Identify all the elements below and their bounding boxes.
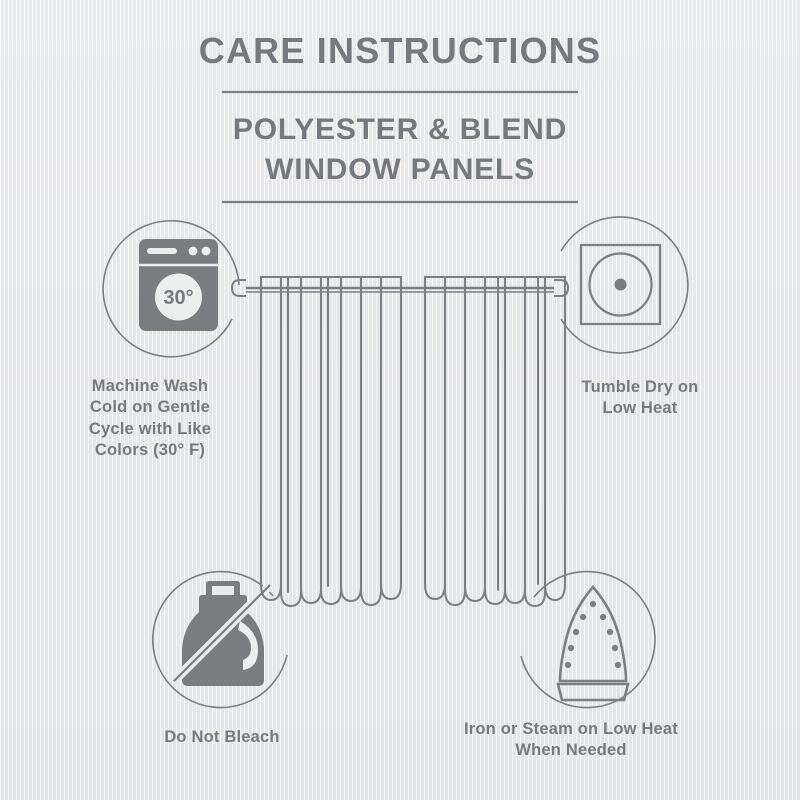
wash-temperature-label: 30° <box>163 287 193 309</box>
bleach-bottle-handle-cutout <box>212 586 234 595</box>
page-subtitle-line1: POLYESTER & BLEND <box>0 110 800 149</box>
iron-steam-icon <box>558 587 628 700</box>
washing-machine-icon: 30° <box>139 239 218 331</box>
iron-steam-holes <box>565 601 621 668</box>
iron-base <box>558 684 628 700</box>
caption-machine-wash: Machine Wash Cold on Gentle Cycle with L… <box>38 376 262 462</box>
curtain-panel-left <box>261 277 401 606</box>
curtain-panel-right <box>425 277 565 606</box>
page-title: CARE INSTRUCTIONS <box>0 28 800 75</box>
page-subtitle-line2: WINDOW PANELS <box>0 150 800 189</box>
care-instructions-infographic: 30° <box>0 0 800 800</box>
tumble-dry-low-icon <box>581 245 660 324</box>
caption-tumble-dry: Tumble Dry on Low Heat <box>528 377 752 420</box>
caption-do-not-bleach: Do Not Bleach <box>110 727 334 748</box>
dry-heat-dot <box>615 279 627 291</box>
caption-iron-low: Iron or Steam on Low Heat When Needed <box>432 719 710 762</box>
